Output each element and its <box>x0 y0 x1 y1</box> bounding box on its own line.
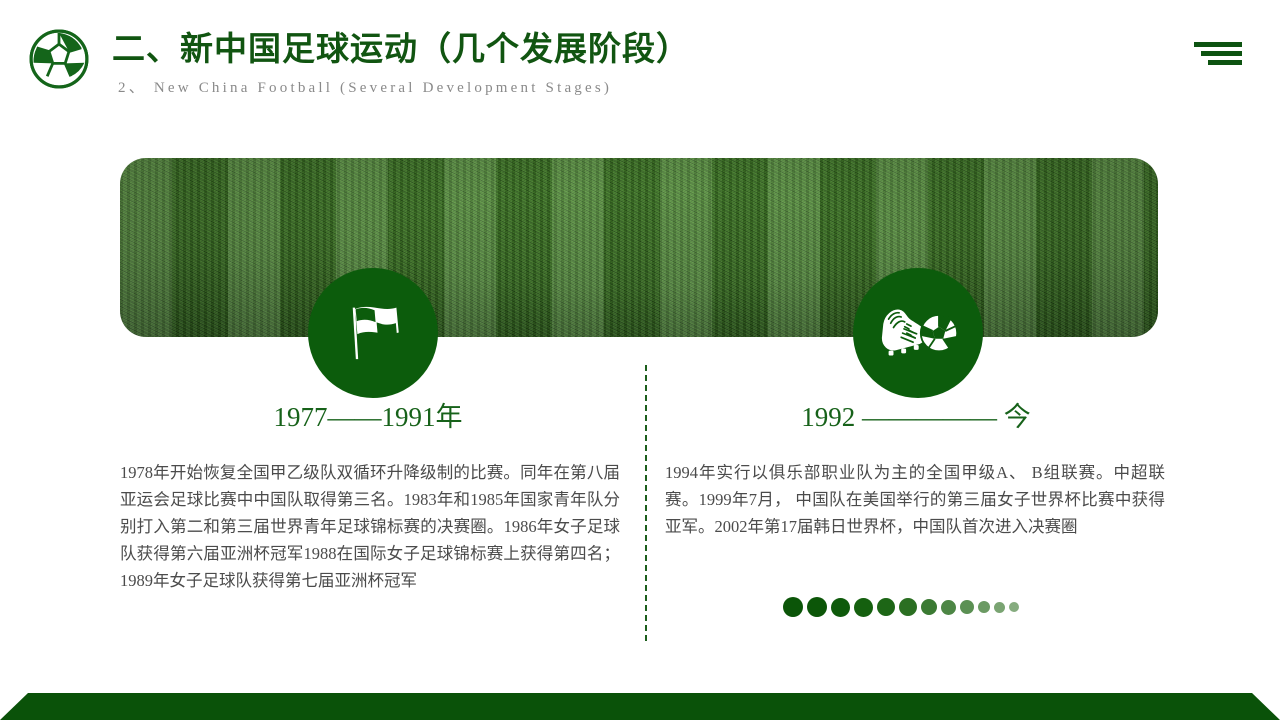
decorative-dot <box>877 598 895 616</box>
decorative-dot <box>1009 602 1019 612</box>
decorative-dot <box>978 601 990 613</box>
page-title: 二、新中国足球运动（几个发展阶段） <box>112 22 690 70</box>
vertical-dashed-divider <box>645 365 647 641</box>
grass-vignette <box>120 158 1158 337</box>
decorative-dot <box>783 597 803 617</box>
column-1-heading: 1977——1991年 <box>120 400 630 440</box>
page-subtitle: 2、 New China Football (Several Developme… <box>118 76 612 97</box>
bottom-accent-bar <box>0 693 1280 720</box>
decorative-dot <box>854 598 873 617</box>
decorative-dot <box>831 598 850 617</box>
decorative-dot <box>921 599 937 615</box>
decorative-dot <box>941 600 956 615</box>
hamburger-menu-icon[interactable] <box>1194 40 1242 70</box>
column-2-body: 1994年实行以俱乐部职业队为主的全国甲级A、 B组联赛。中超联赛。1999年7… <box>665 459 1165 540</box>
grass-field-image <box>120 158 1158 337</box>
checkered-flag-badge[interactable] <box>308 268 438 398</box>
menu-bar-top <box>1194 42 1242 47</box>
checkered-flag-icon <box>334 292 412 375</box>
timeline-column-2: 1992 ————— 今 1994年实行以俱乐部职业队为主的全国甲级A、 B组联… <box>665 400 1175 540</box>
decorative-dot <box>899 598 917 616</box>
menu-bar-bottom <box>1208 60 1242 65</box>
column-1-body: 1978年开始恢复全国甲乙级队双循环升降级制的比赛。同年在第八届亚运会足球比赛中… <box>120 459 620 594</box>
decorative-dots-row <box>783 594 1063 620</box>
decorative-dot <box>960 600 974 614</box>
timeline-column-1: 1977——1991年 1978年开始恢复全国甲乙级队双循环升降级制的比赛。同年… <box>120 400 630 594</box>
soccer-boot-and-ball-badge[interactable] <box>853 268 983 398</box>
decorative-dot <box>994 602 1005 613</box>
menu-bar-middle <box>1201 51 1242 56</box>
page-header: 二、新中国足球运动（几个发展阶段） 2、 New China Football … <box>0 0 1280 120</box>
decorative-dot <box>807 597 827 617</box>
soccer-boot-and-ball-icon <box>876 289 960 378</box>
column-2-heading: 1992 ————— 今 <box>665 400 1175 440</box>
soccer-ball-icon <box>28 28 90 90</box>
